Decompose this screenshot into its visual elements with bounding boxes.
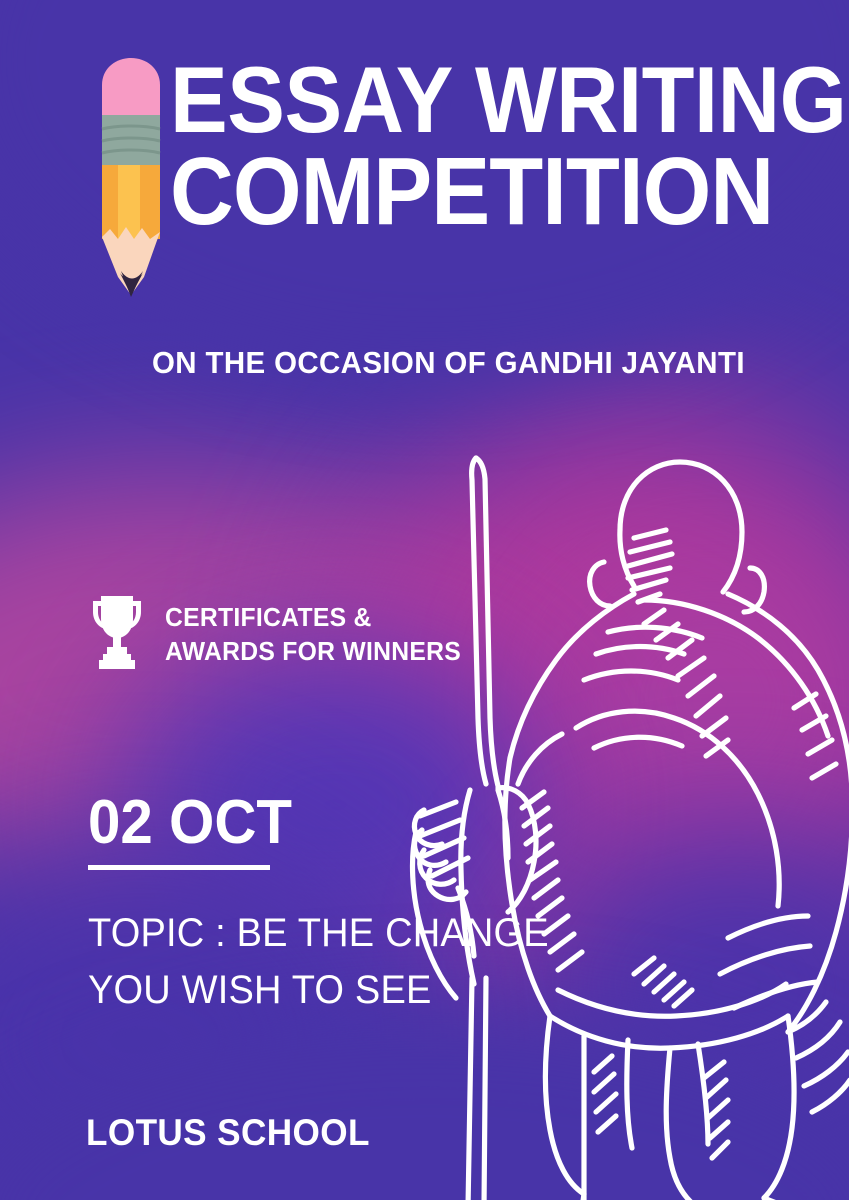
topic-block: TOPIC : BE THE CHANGE YOU WISH TO SEE [88,905,549,1019]
awards-block: CERTIFICATES & AWARDS FOR WINNERS [88,592,477,676]
title-line-2: COMPETITION [170,145,740,238]
trophy-icon [88,592,146,676]
awards-text: CERTIFICATES & AWARDS FOR WINNERS [165,600,461,669]
poster-title: ESSAY WRITING COMPETITION [170,54,790,238]
awards-line-2: AWARDS FOR WINNERS [165,634,461,668]
topic-line-2: YOU WISH TO SEE [88,962,549,1019]
school-name: LOTUS SCHOOL [86,1112,370,1154]
title-line-1: ESSAY WRITING [170,54,740,145]
poster-canvas: ESSAY WRITING COMPETITION ON THE OCCASIO… [0,0,849,1200]
date-underline-rule [88,865,270,870]
event-date: 02 OCT [88,792,292,854]
awards-line-1: CERTIFICATES & [165,600,461,634]
poster-subtitle: ON THE OCCASION OF GANDHI JAYANTI [152,345,745,381]
poster-content: ESSAY WRITING COMPETITION ON THE OCCASIO… [0,0,849,1200]
date-block: 02 OCT [88,792,305,870]
topic-line-1: TOPIC : BE THE CHANGE [88,905,549,962]
